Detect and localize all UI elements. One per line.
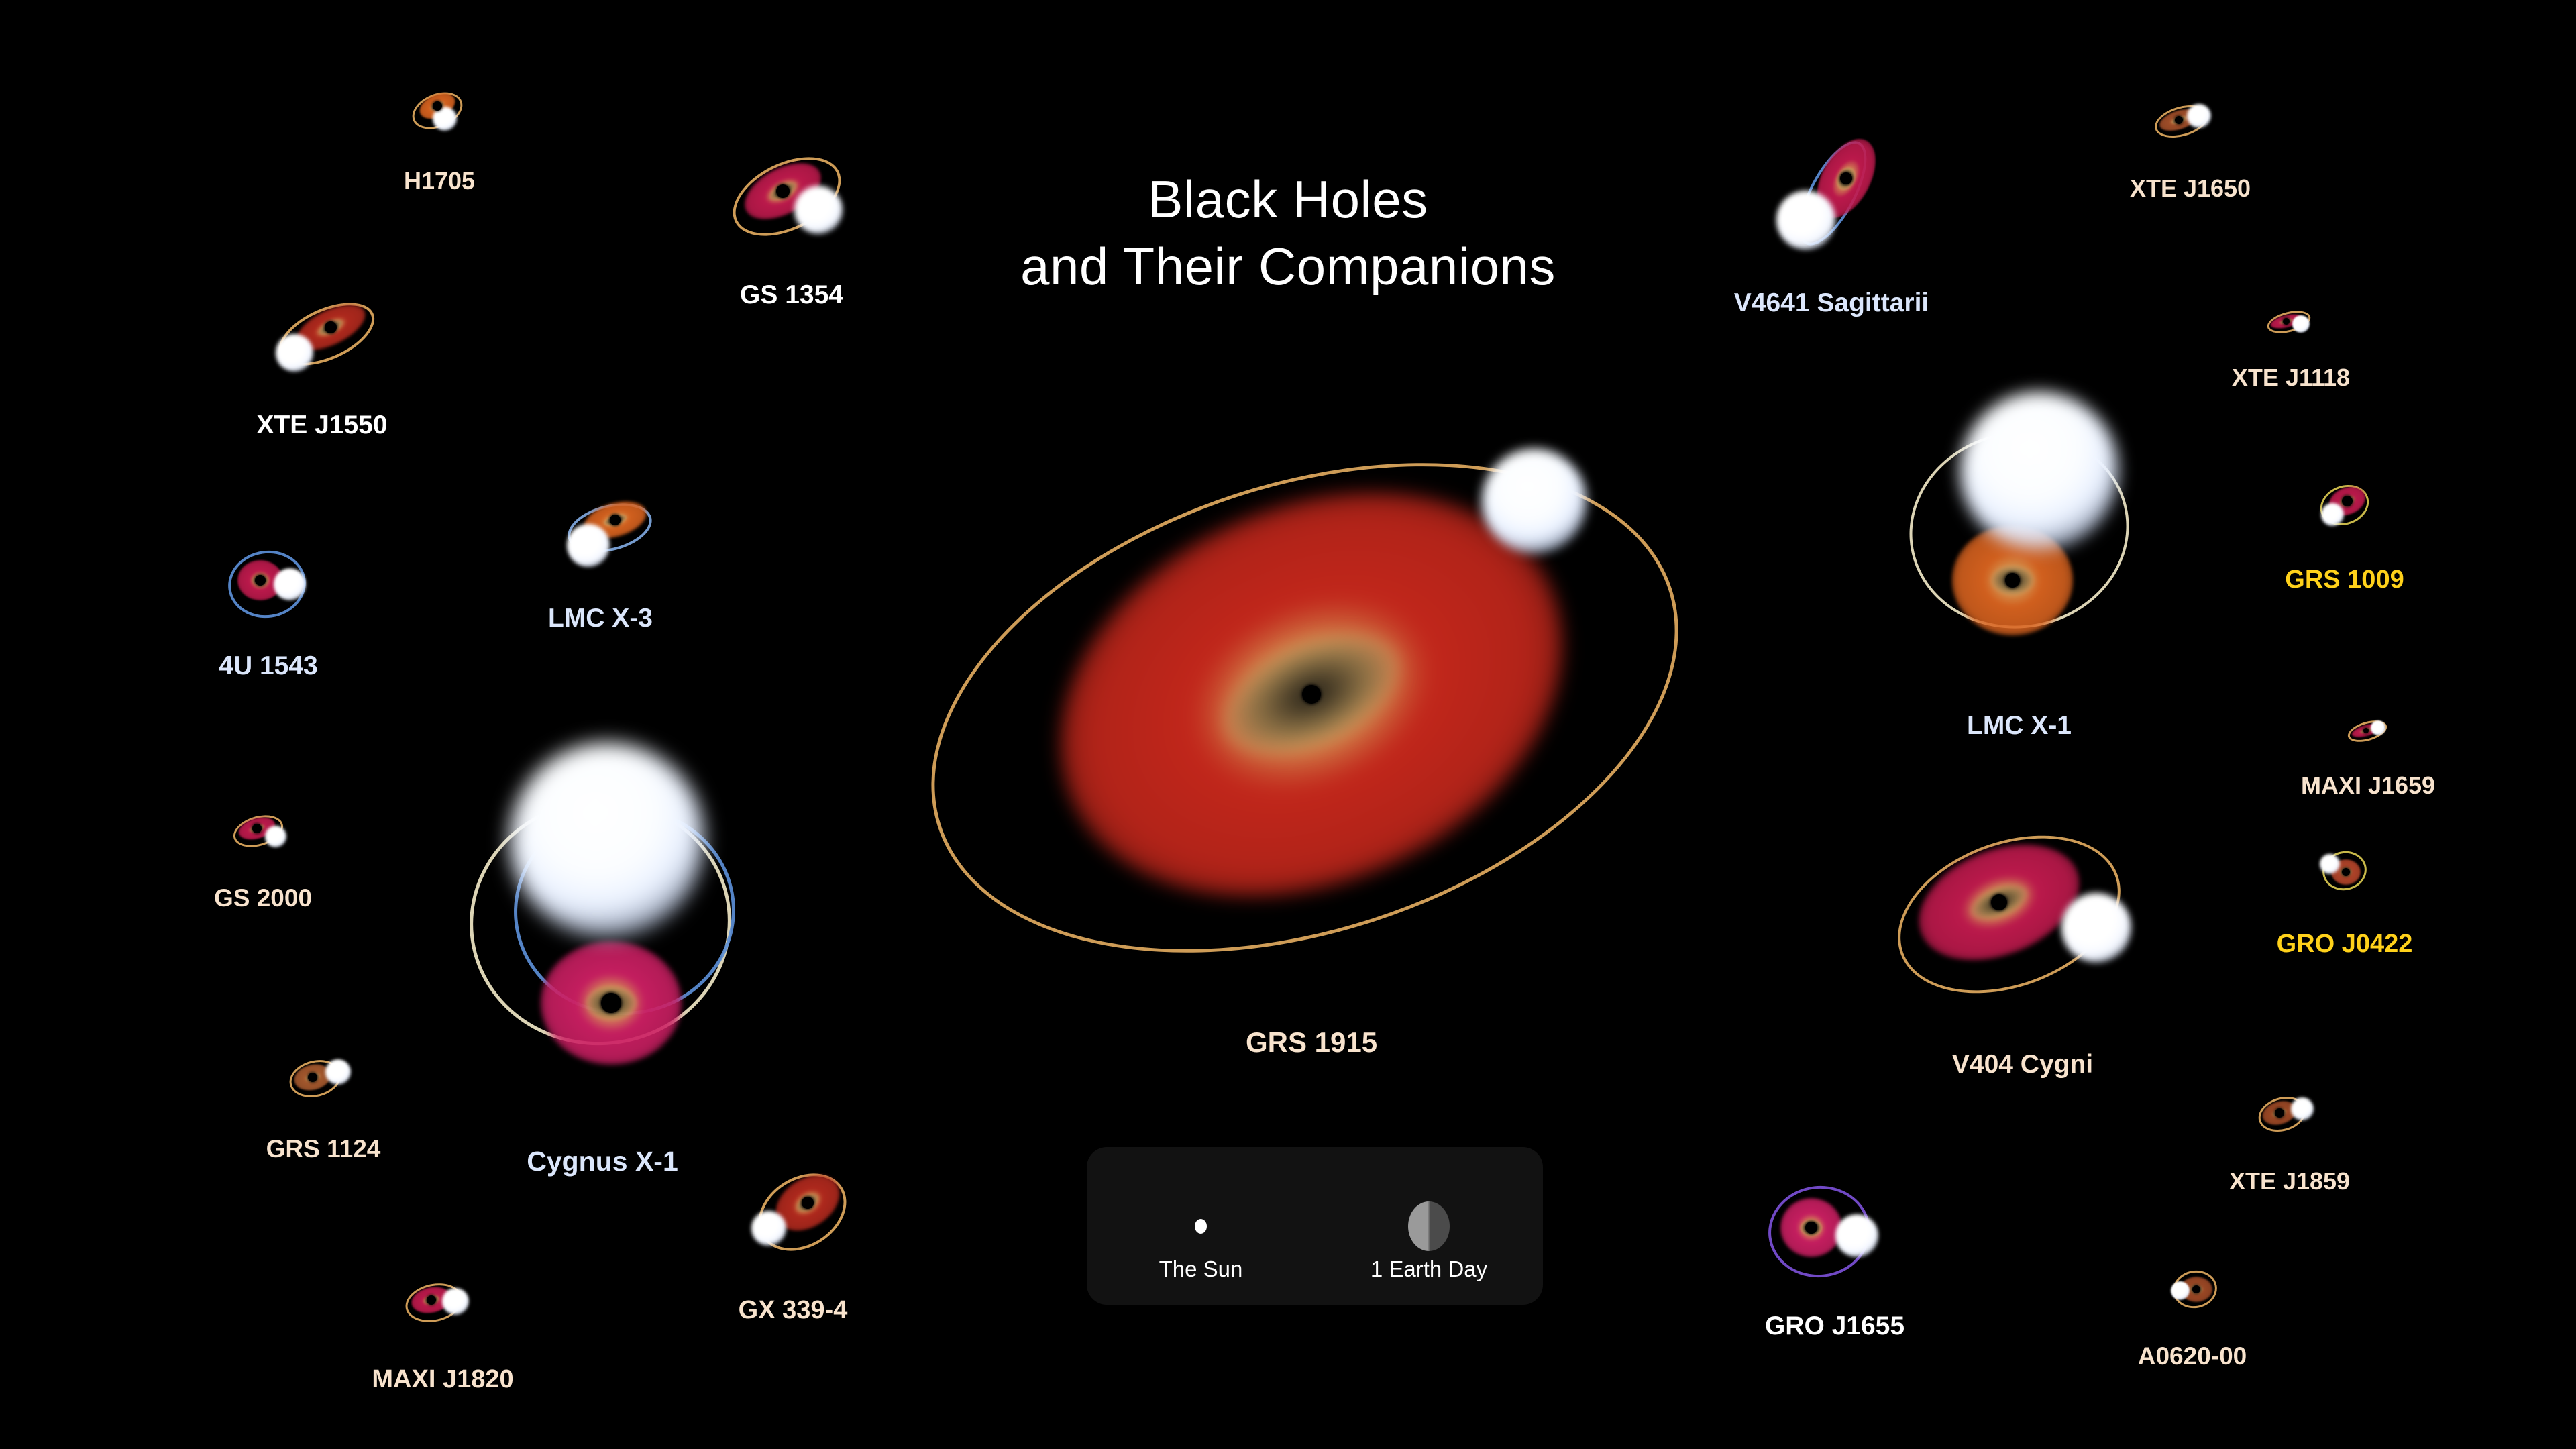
system-label: MAXI J1659 (2301, 771, 2435, 800)
companion-star (276, 334, 313, 372)
system-artwork (1885, 389, 2153, 671)
system-label: GRS 1915 (1246, 1026, 1377, 1059)
system-artwork (2331, 708, 2405, 755)
binary-system-xte-j1650[interactable]: XTE J1650 (2147, 91, 2234, 151)
system-artwork (252, 295, 392, 389)
system-label: GRS 1009 (2285, 566, 2404, 594)
system-label: GS 2000 (214, 884, 312, 912)
black-hole (433, 101, 442, 111)
binary-system-v404-cygni[interactable]: V404 Cygni (1882, 815, 2163, 1016)
black-hole (2363, 728, 2369, 733)
black-hole (427, 1295, 436, 1305)
system-artwork (1758, 1181, 1912, 1295)
system-artwork (2246, 1083, 2333, 1144)
system-artwork (402, 80, 476, 141)
black-hole (610, 515, 621, 525)
system-label: GRO J0422 (2277, 930, 2413, 959)
system-label: GS 1354 (740, 280, 843, 310)
black-hole (1805, 1222, 1817, 1234)
system-artwork (276, 1045, 370, 1112)
companion-star (2292, 315, 2310, 333)
binary-system-lmc-x-3[interactable]: LMC X-3 (540, 486, 661, 587)
system-label: Cygnus X-1 (527, 1146, 678, 1177)
black-hole (2275, 1108, 2284, 1118)
binary-system-xte-j1118[interactable]: XTE J1118 (2254, 299, 2328, 345)
black-hole (255, 575, 266, 586)
black-hole (802, 1197, 814, 1209)
sky-canvas: Black Holes and Their Companions H1705GS… (0, 0, 2576, 1449)
companion-star (751, 1211, 786, 1246)
companion-star (325, 1059, 351, 1085)
binary-system-maxi-j1820[interactable]: MAXI J1820 (392, 1268, 493, 1342)
black-hole (2175, 116, 2183, 124)
binary-system-grs-1009[interactable]: GRS 1009 (2304, 473, 2385, 540)
companion-star (265, 826, 286, 847)
system-artwork (1882, 815, 2163, 1016)
system-label: XTE J1118 (2232, 364, 2350, 392)
black-hole (1991, 894, 2007, 910)
system-label: LMC X-3 (548, 604, 653, 633)
binary-system-xte-j1859[interactable]: XTE J1859 (2246, 1083, 2333, 1144)
system-artwork (2304, 473, 2385, 540)
system-artwork (1751, 134, 1912, 268)
companion-star (794, 186, 843, 234)
binary-system-grs-1915[interactable]: GRS 1915 (842, 426, 1781, 956)
system-artwork (458, 738, 747, 1114)
system-label: XTE J1859 (2229, 1167, 2350, 1195)
companion-star (2061, 893, 2131, 963)
system-label: LMC X-1 (1967, 711, 2072, 741)
system-artwork (2304, 839, 2385, 906)
system-artwork (215, 540, 322, 634)
system-artwork (540, 486, 661, 587)
binary-system-gro-j0422[interactable]: GRO J0422 (2304, 839, 2385, 906)
system-label: H1705 (404, 167, 475, 195)
binary-system-a0620-00[interactable]: A0620-00 (2152, 1261, 2233, 1322)
companion-star (2321, 503, 2344, 526)
sun-dot-icon (1195, 1219, 1207, 1234)
system-artwork (219, 802, 307, 862)
companion-star (442, 1288, 469, 1315)
system-label: XTE J1550 (256, 411, 387, 440)
companion-star (1482, 449, 1587, 553)
companion-star (2320, 854, 2340, 874)
system-artwork (708, 144, 875, 258)
system-artwork (392, 1268, 493, 1342)
binary-system-cygnus-x-1[interactable]: Cygnus X-1 (458, 738, 747, 1114)
companion-star (1835, 1214, 1878, 1257)
black-hole (252, 824, 262, 833)
black-hole (325, 321, 337, 333)
black-hole (2005, 573, 2020, 588)
binary-system-gs-2000[interactable]: GS 2000 (219, 802, 307, 862)
black-hole (601, 993, 621, 1013)
system-label: GRO J1655 (1765, 1311, 1904, 1341)
system-label: GX 339-4 (739, 1296, 848, 1325)
system-artwork (842, 426, 1781, 956)
system-label: XTE J1650 (2130, 174, 2251, 203)
binary-system-gs-1354[interactable]: GS 1354 (708, 144, 875, 258)
scale-legend: The Sun 1 Earth Day (1087, 1147, 1543, 1305)
binary-system-h1705[interactable]: H1705 (402, 80, 476, 141)
system-label: GRS 1124 (266, 1135, 381, 1163)
black-hole (2342, 868, 2350, 876)
companion-star (1776, 191, 1835, 250)
companion-star (2371, 720, 2385, 735)
system-artwork (726, 1164, 860, 1278)
companion-star (510, 743, 704, 937)
legend-item-earth-day: 1 Earth Day (1315, 1147, 1543, 1305)
half-lit-sphere-icon (1408, 1201, 1450, 1251)
companion-star (567, 524, 610, 567)
companion-star (274, 568, 306, 600)
companion-star (2171, 1281, 2190, 1300)
legend-item-sun: The Sun (1087, 1147, 1315, 1305)
black-hole (776, 184, 790, 198)
binary-system-lmc-x-1[interactable]: LMC X-1 (1885, 389, 2153, 671)
black-hole (2342, 496, 2353, 506)
black-hole (308, 1073, 317, 1082)
legend-label-earth-day: 1 Earth Day (1371, 1256, 1487, 1282)
system-artwork (2147, 91, 2234, 151)
system-label: 4U 1543 (219, 651, 317, 681)
binary-system-4u-1543[interactable]: 4U 1543 (215, 540, 322, 634)
binary-system-grs-1124[interactable]: GRS 1124 (276, 1045, 370, 1112)
black-hole (2192, 1285, 2200, 1293)
black-hole (1302, 685, 1321, 704)
system-label: A0620-00 (2138, 1342, 2247, 1371)
system-label: MAXI J1820 (372, 1365, 513, 1394)
binary-system-gro-j1655[interactable]: GRO J1655 (1758, 1181, 1912, 1295)
companion-star (2291, 1097, 2314, 1120)
legend-label-sun: The Sun (1159, 1256, 1243, 1282)
binary-system-maxi-j1659[interactable]: MAXI J1659 (2331, 708, 2405, 755)
binary-system-gx-339-4[interactable]: GX 339-4 (726, 1164, 860, 1278)
binary-system-xte-j1550[interactable]: XTE J1550 (252, 295, 392, 389)
system-artwork (2254, 299, 2328, 345)
companion-star (2187, 104, 2211, 128)
system-label: V404 Cygni (1952, 1050, 2093, 1079)
companion-star (1960, 392, 2118, 550)
black-hole (2283, 318, 2290, 325)
system-label: V4641 Sagittarii (1734, 288, 1929, 318)
system-artwork (2152, 1261, 2233, 1322)
black-hole (1840, 172, 1852, 184)
binary-system-v4641-sagittarii[interactable]: V4641 Sagittarii (1751, 134, 1912, 268)
